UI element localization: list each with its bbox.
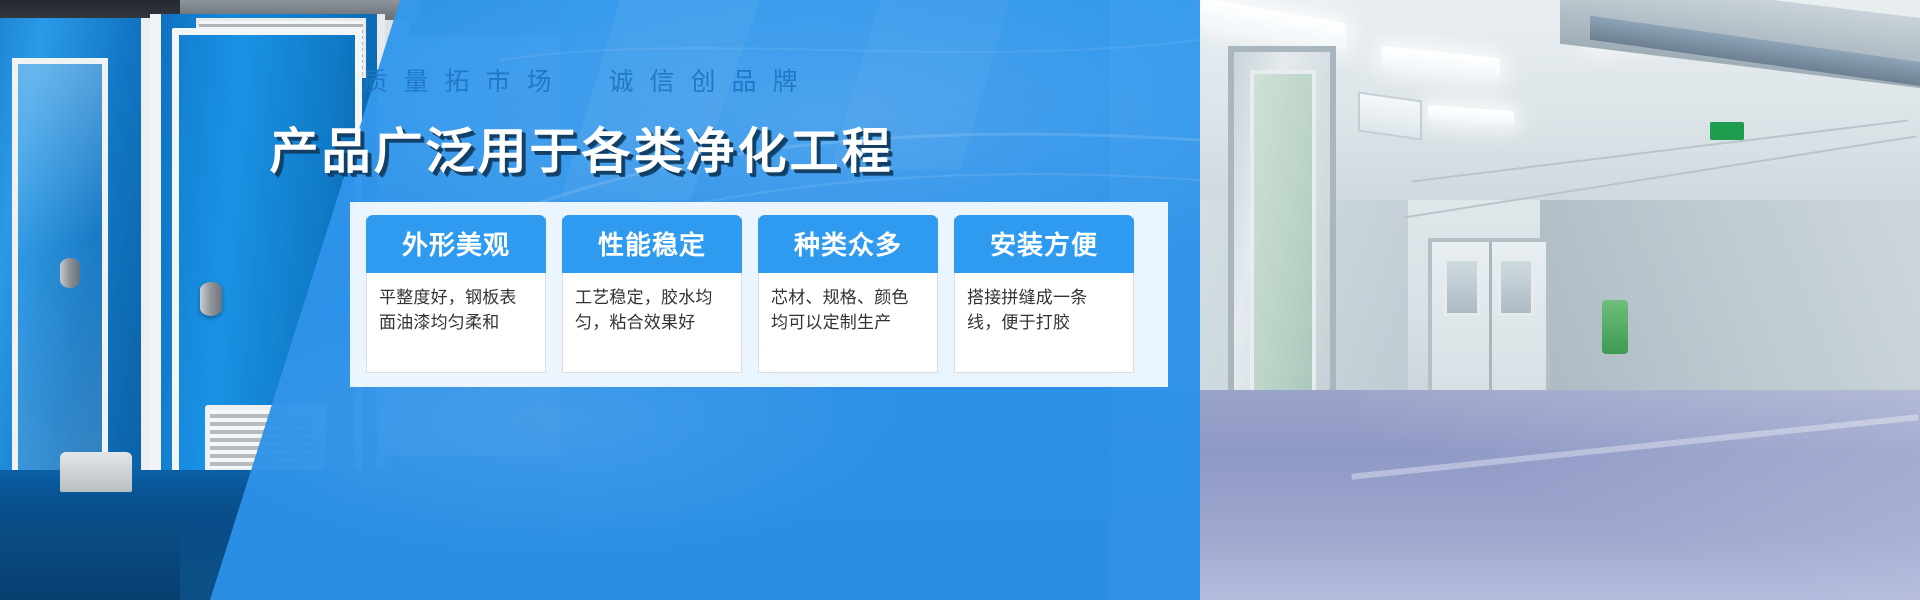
feature-card[interactable]: 性能稳定 工艺稳定，胶水均匀，粘合效果好: [562, 216, 742, 373]
feature-card-body: 芯材、规格、颜色均可以定制生产: [759, 273, 937, 372]
headline-group: 质量拓市场 诚信创品牌 产品广泛用于各类净化工程: [0, 62, 1160, 183]
feature-card-heading: 外形美观: [366, 215, 546, 273]
feature-card[interactable]: 外形美观 平整度好，钢板表面油漆均匀柔和: [366, 216, 546, 373]
feature-card-body: 平整度好，钢板表面油漆均匀柔和: [367, 273, 545, 372]
feature-card-body: 搭接拼缝成一条线，便于打胶: [955, 273, 1133, 372]
feature-card-heading: 性能稳定: [562, 215, 742, 273]
photo-floor-object: [60, 452, 132, 492]
feature-card-heading: 安装方便: [954, 215, 1134, 273]
banner-subtitle: 质量拓市场 诚信创品牌: [0, 62, 1160, 98]
feature-card[interactable]: 种类众多 芯材、规格、颜色均可以定制生产: [758, 216, 938, 373]
feature-card[interactable]: 安装方便 搭接拼缝成一条线，便于打胶: [954, 216, 1134, 373]
corridor-green-object: [1602, 300, 1628, 354]
right-product-photo: [1110, 0, 1920, 600]
photo-door-handle-2: [60, 258, 80, 288]
photo-floor-shadow: [0, 520, 180, 600]
door-window-right: [1498, 258, 1534, 316]
promotional-banner: 质量拓市场 诚信创品牌 产品广泛用于各类净化工程 外形美观 平整度好，钢板表面油…: [0, 0, 1920, 600]
feature-cards-container: 外形美观 平整度好，钢板表面油漆均匀柔和 性能稳定 工艺稳定，胶水均匀，粘合效果…: [350, 202, 1168, 387]
door-window-left: [1444, 258, 1480, 316]
feature-card-heading: 种类众多: [758, 215, 938, 273]
exit-sign: [1710, 122, 1744, 140]
corridor-floor-highlight: [1360, 390, 1920, 600]
photo-door-handle: [200, 282, 222, 316]
banner-title: 产品广泛用于各类净化工程: [0, 112, 1160, 183]
feature-card-body: 工艺稳定，胶水均匀，粘合效果好: [563, 273, 741, 372]
